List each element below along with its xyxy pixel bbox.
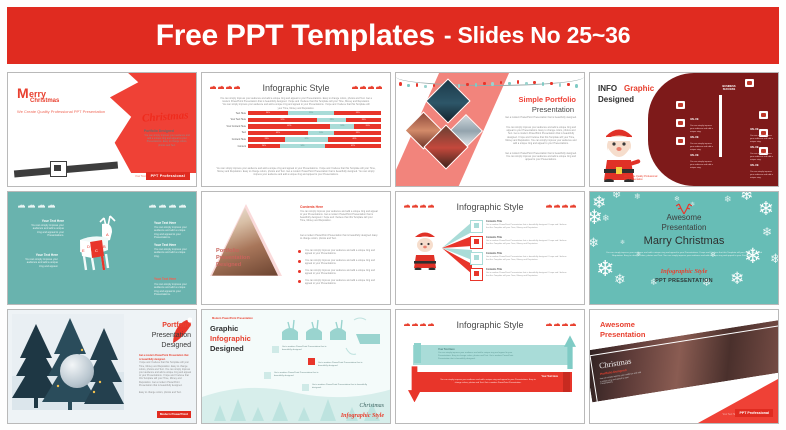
fan-connector-shapes [440, 220, 472, 276]
bar-segment: 34% [280, 144, 325, 148]
slide8-line1: Awesome [590, 213, 778, 222]
slide6-content-body: You can simply impress your audience and… [300, 211, 378, 224]
string-light-bulb [533, 81, 536, 85]
slide8-line3: Marry Christmas [590, 235, 778, 247]
slide-thumbnail-10[interactable]: Modern PowerPoint Presentation Graphic I… [201, 309, 391, 424]
string-light-bulb [550, 82, 553, 86]
slide6-bullet-4: You can simply impress your audience and… [305, 280, 377, 286]
slide10-item-4: Get a modern PowerPoint Presentation tha… [312, 384, 368, 390]
bar-segment: 22% [317, 118, 346, 122]
slide10-script2: Infographic Style [341, 413, 384, 419]
svg-text:C: C [95, 248, 98, 253]
string-light-bulb [407, 84, 410, 88]
slide5-callout-4: Your Text Here You can simply impress yo… [22, 254, 58, 269]
bar-segment-value: 62% [248, 124, 330, 128]
slide8-body: You can simply impress your audience and… [606, 252, 762, 258]
slide4-center-label: BUSINESS SUCCESS [716, 85, 742, 91]
value-block-3: VALUE You can simply impress your audien… [690, 143, 714, 169]
slide7-item-body-4: Get a modern PowerPoint Presentation tha… [486, 272, 570, 278]
santa-claus-icon [596, 120, 642, 182]
page-root: Free PPT Templates - Slides No 25~36 M e… [0, 0, 786, 430]
string-light-bulb [475, 83, 478, 87]
slide9-line2: Presentation [152, 332, 191, 339]
slide7-item-title-4: Contents Title [486, 268, 502, 271]
bar-segment-value: 35% [288, 111, 335, 115]
message-chip-icon-3 [676, 137, 685, 145]
bar-segment: 26% [346, 118, 381, 122]
slide4-title-c: Designed [598, 95, 634, 104]
string-light-bulb [399, 82, 402, 86]
slide4-title-a: INFO [598, 84, 617, 93]
slide4-title-b: Graphic [624, 84, 654, 93]
bar-segment-value: 34% [280, 144, 325, 148]
string-light-bulb [567, 83, 570, 87]
slide4-footer: We Create Quality Professional PPT Prese… [624, 175, 660, 181]
teal-ribbon-tab [414, 343, 421, 363]
string-light-bulb [500, 81, 503, 85]
slide-thumbnail-7[interactable]: Infographic Style [395, 191, 585, 306]
bar-segment-value: 52% [248, 118, 317, 122]
slide2-title: Infographic Style [202, 83, 390, 93]
bar-track: 52%22%26% [248, 118, 381, 122]
slide10-script1: Christmas [359, 403, 384, 409]
bar-chart-row: Text Here30%35%35% [224, 111, 381, 115]
slide5-callout-3: Your Text Here You can simply impress yo… [154, 244, 190, 259]
message-chip-icon-1 [676, 101, 685, 109]
step-marker-2 [308, 358, 315, 365]
slide12-line1: Awesome [600, 320, 635, 329]
slide3-title-dark: Presentation [532, 105, 574, 114]
slide10-item-2: Get a modern PowerPoint Presentation tha… [318, 362, 370, 368]
slide8-script: Infographic Style [590, 268, 778, 275]
string-light-bulb [508, 82, 511, 86]
bar-segment-value: 32% [285, 137, 328, 141]
slide-thumbnail-3[interactable]: Simple Portfolio Presentation Get a mode… [395, 72, 585, 187]
bar-segment: 35% [288, 111, 335, 115]
string-light-bulb [491, 82, 494, 86]
bar-segment-value: 45% [248, 131, 308, 135]
bar-segment-value: 42% [325, 144, 381, 148]
bullet-dot-3 [298, 270, 301, 273]
red-ribbon-tab [563, 372, 570, 392]
gear-chip-icon-1 [745, 79, 754, 87]
bar-segment-value: 28% [248, 137, 285, 141]
slide10-line2: Infographic [210, 334, 251, 343]
bar-segment-value: 24% [248, 144, 280, 148]
slide7-item-title-1: Contents Title [486, 220, 502, 223]
message-chip-icon-2 [676, 119, 685, 127]
slide6-bullet-2: You can simply impress your audience and… [305, 260, 377, 266]
flying-reindeer-left [18, 204, 55, 208]
bar-row-label: Content [224, 145, 248, 148]
bar-segment-value: 40% [328, 137, 381, 141]
reindeer-diagram-icon: A B C D E [60, 212, 132, 274]
svg-text:A: A [106, 232, 109, 237]
string-light-bulb [559, 83, 562, 87]
slide-thumbnail-4[interactable]: INFO Graphic Designed [589, 72, 779, 187]
string-light-bulb [424, 85, 427, 89]
slide11-bottom-body: You can simply impress your audience and… [440, 379, 536, 385]
step-marker-1 [272, 346, 279, 353]
bar-segment: 45% [248, 131, 308, 135]
string-light-bulb [433, 84, 436, 88]
string-light-bulb [517, 80, 520, 84]
bar-row-label: Content Here [224, 138, 248, 141]
bar-segment: 52% [248, 118, 317, 122]
bar-segment-value: 22% [317, 118, 346, 122]
slide6-bullet-3: You can simply impress your audience and… [305, 270, 377, 276]
santa-suit-shape [84, 73, 196, 173]
slide2-top-paragraph: You can simply impress your audience and… [220, 98, 372, 111]
bar-segment-value: 20% [354, 124, 381, 128]
slide1-section-body: You can simply impress your audience and… [144, 135, 190, 148]
slide1-title-sub: Christmas [30, 98, 59, 104]
bar-row-label: Your Text Here [224, 118, 248, 121]
slide7-item-title-3: Contents Title [486, 252, 502, 255]
string-light-bulb [542, 82, 545, 86]
bar-segment-value: 30% [248, 111, 288, 115]
santa-buckle-icon [50, 161, 67, 177]
slide7-item-body-2: Get a modern PowerPoint Presentation tha… [486, 240, 570, 246]
bar-track: 62%18%20% [248, 124, 381, 128]
flying-reindeer-right [149, 204, 186, 208]
slide9-badge: Modern PowerPoint [157, 411, 191, 418]
slide9-body: I hope and I believe that this Template … [139, 362, 191, 388]
slide11-top-body: You can simply impress your audience and… [438, 352, 522, 361]
slide12-badge: PPT Professional [735, 409, 773, 417]
slide10-line3: Designed [210, 344, 244, 353]
bar-segment: 20% [354, 124, 381, 128]
slide-thumbnail-11[interactable]: Infographic Style Your Text Here You can… [395, 309, 585, 424]
item-icon-box-2 [470, 236, 483, 249]
banner-subtitle: - Slides No 25~36 [444, 22, 630, 49]
bar-segment: 35% [334, 111, 381, 115]
svg-text:B: B [103, 244, 106, 249]
bar-segment-value: 35% [334, 111, 381, 115]
slide6-content-title: Contents Here [300, 205, 323, 209]
slide-thumbnail-9[interactable]: Portfolio Presentation Designed Get a mo… [7, 309, 197, 424]
slide-thumbnail-grid: M erry Christmas We Create Quality Profe… [7, 72, 779, 424]
slide6-bullet-1: You can simply impress your audience and… [305, 250, 377, 256]
value-block-6: VALUE You can simply impress your audien… [750, 153, 774, 179]
header-banner: Free PPT Templates - Slides No 25~36 [7, 7, 779, 64]
slide-thumbnail-5[interactable]: A B C D E Your Text Here You can simply … [7, 191, 197, 306]
bar-segment: 20% [308, 131, 335, 135]
bar-row-label: Text Here [224, 112, 248, 115]
slide-thumbnail-8[interactable]: ❄❄❄❄❄❄❄❄❄❄❄❄❄❄❄❄❄❄❄❄❄❄ Awesome Presentat… [589, 191, 779, 306]
bar-chart-row: Text45%20%35% [224, 131, 381, 135]
item-icon-box-3 [470, 252, 483, 265]
slide5-callout-5: Your Text Here You can simply impress yo… [154, 278, 190, 296]
slide11-top-title: Your Text Here [438, 348, 455, 351]
slide8-footer: PPT PRESENTATION [590, 278, 778, 284]
slide9-line3: Designed [161, 342, 191, 349]
bar-chart-row: Your Text Here52%22%26% [224, 118, 381, 122]
slide2-bar-chart: Text Here30%35%35%Your Text Here52%22%26… [224, 111, 381, 150]
string-light-bulb [466, 83, 469, 87]
bar-track: 45%20%35% [248, 131, 381, 135]
banner-main-title: Free PPT Templates [156, 19, 435, 53]
bar-chart-row: Your Content Here62%18%20% [224, 124, 381, 128]
slide7-item-body-1: Get a modern PowerPoint Presentation tha… [486, 224, 570, 230]
slide1-title-letter: M [17, 87, 29, 99]
slide3-body2: Get a modern PowerPoint Presentation tha… [504, 153, 578, 163]
string-light-bulb [575, 84, 578, 88]
step-marker-4 [302, 384, 309, 391]
slide-thumbnail-6[interactable]: Portfolio Presentation Designed Contents… [201, 191, 391, 306]
slide6-overlay-text: Portfolio Presentation Designed [216, 248, 250, 269]
bar-track: 24%34%42% [248, 144, 381, 148]
slide-thumbnail-1[interactable]: M erry Christmas We Create Quality Profe… [7, 72, 197, 187]
string-light-bulb [416, 83, 419, 87]
step-marker-3 [264, 372, 271, 379]
slide7-item-title-2: Contents Title [486, 236, 502, 239]
bar-row-label: Text [224, 131, 248, 134]
bar-segment: 30% [248, 111, 288, 115]
bar-segment-value: 35% [334, 131, 381, 135]
bar-row-label: Your Content Here [224, 125, 248, 128]
bar-track: 30%35%35% [248, 111, 381, 115]
slide9-lead: Get a modern PowerPoint Presentation tha… [139, 354, 191, 360]
string-light-bulb [483, 82, 486, 86]
item-icon-box-4 [470, 268, 483, 281]
slide9-tail: Easy to change colors, photos and Text. [139, 392, 191, 395]
bar-segment: 40% [328, 137, 381, 141]
santa-claus-icon-7 [408, 226, 442, 270]
slide10-kicker: Modern PowerPoint Presentation [212, 317, 253, 320]
bar-segment-value: 26% [346, 118, 381, 122]
slide3-title-red: Simple Portfolio [518, 95, 576, 104]
bar-segment: 42% [325, 144, 381, 148]
slide1-body: We Create Quality Professional PPT Prese… [17, 109, 105, 115]
slide1-section-title: Portfolio Designed [144, 129, 174, 133]
slide3-body1: You can simply impress your audience and… [504, 127, 578, 146]
bar-segment: 62% [248, 124, 330, 128]
bar-track: 28%32%40% [248, 137, 381, 141]
slide-thumbnail-2[interactable]: Infographic Style You can simply impress… [201, 72, 391, 187]
bar-segment: 28% [248, 137, 285, 141]
slide-thumbnail-12[interactable]: Awesome Presentation Christmas Portfolio… [589, 309, 779, 424]
slide10-item-3: Get a modern PowerPoint Presentation tha… [274, 372, 326, 378]
bar-segment-value: 18% [330, 124, 354, 128]
string-light-bulb [525, 82, 528, 86]
svg-text:E: E [82, 248, 85, 253]
infographic-spine [719, 95, 722, 157]
bar-segment: 35% [334, 131, 381, 135]
svg-text:D: D [87, 244, 90, 249]
slide3-lead: Get a modern PowerPoint Presentation tha… [504, 117, 578, 120]
slide7-title: Infographic Style [396, 202, 584, 212]
bar-segment-value: 20% [308, 131, 335, 135]
item-icon-box-1 [470, 220, 483, 233]
slide10-line1: Graphic [210, 324, 238, 333]
slide7-item-body-3: Get a modern PowerPoint Presentation tha… [486, 256, 570, 262]
bar-segment: 32% [285, 137, 328, 141]
bullet-dot-1 [298, 250, 301, 253]
slide5-callout-2: Your Text Here You can simply impress yo… [154, 222, 190, 240]
bar-segment: 18% [330, 124, 354, 128]
slide2-bottom-paragraph: You can simply impress your audience and… [216, 168, 376, 178]
bullet-dot-2 [298, 260, 301, 263]
slide6-content-body2: Get a modern PowerPoint Presentation tha… [300, 235, 378, 241]
bar-chart-row: Content Here28%32%40% [224, 137, 381, 141]
bar-segment: 24% [248, 144, 280, 148]
slide9-line1: Portfolio [162, 322, 191, 329]
slide11-bottom-title: Your Text Here [541, 375, 558, 378]
bar-chart-row: Content24%34%42% [224, 144, 381, 148]
slide10-item-1: Get a modern PowerPoint Presentation tha… [282, 346, 334, 352]
slide5-callout-1: Your Text Here You can simply impress yo… [30, 220, 64, 238]
slide12-line2: Presentation [600, 330, 645, 339]
slide1-badge: PPT Professional [146, 172, 190, 180]
slide8-line2: Presentation [590, 223, 778, 232]
slide11-title: Infographic Style [396, 320, 584, 330]
snowflake-icon: ❄ [770, 252, 778, 265]
bullet-dot-4 [298, 280, 301, 283]
string-lights-icon [396, 77, 584, 87]
